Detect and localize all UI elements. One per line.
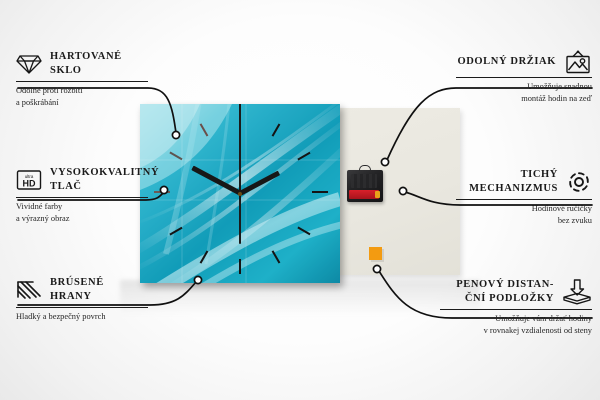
infographic-stage: HARTOVANÉ SKLO Odolné proti rozbití a po… xyxy=(0,0,600,400)
hd-label: HD xyxy=(23,178,36,188)
feature-desc-line-1: Umožňuje snadnou xyxy=(456,81,592,93)
feature-desc-line-2: a výrazný obraz xyxy=(16,213,148,225)
feature-divider xyxy=(16,197,148,198)
feature-description: Vividné farby a výrazný obraz xyxy=(16,201,148,225)
feature-title-line-2: ČNÍ PODLOŽKY xyxy=(456,292,554,306)
feature-title: PENOVÝ DISTAN- ČNÍ PODLOŽKY xyxy=(456,278,554,306)
feature-desc-line-1: Hodinové ručičky xyxy=(456,203,592,215)
mechanism-battery xyxy=(349,190,379,199)
feature-desc-line-1: Vividné farby xyxy=(16,201,148,213)
feature-durable-holder: ODOLNÝ DRŽIAK Umožňuje snadnou montáž ho… xyxy=(456,50,592,105)
feature-tempered-glass: HARTOVANÉ SKLO Odolné proti rozbití a po… xyxy=(16,50,148,109)
mechanism-hanger-hook xyxy=(359,165,371,171)
orange-foam-spacer xyxy=(369,247,382,260)
feature-description: Odolné proti rozbití a poškrábání xyxy=(16,85,148,109)
quartz-clock-mechanism xyxy=(347,170,383,202)
feature-divider xyxy=(456,199,592,200)
feature-title: VYSOKOKVALITNÝ TLAČ xyxy=(50,166,159,194)
feature-desc-line-1: Odolné proti rozbití xyxy=(16,85,148,97)
hour-tick-3 xyxy=(312,191,328,193)
surface-reflection xyxy=(120,280,480,322)
mechanism-dial xyxy=(351,174,377,188)
feature-ground-edges: BRÚSENÉ HRANY Hladký a bezpečný povrch xyxy=(16,276,148,323)
feature-title: TICHÝ MECHANIZMUS xyxy=(456,168,558,196)
feature-desc-line-1: Hladký a bezpečný povrch xyxy=(16,311,148,323)
feature-description: Hladký a bezpečný povrch xyxy=(16,311,148,323)
feature-description: Umožňuje snadnou montáž hodin na zeď xyxy=(456,81,592,105)
square-glass-wall-clock xyxy=(140,104,340,283)
feature-title-line-1: PENOVÝ DISTAN- xyxy=(456,278,554,292)
diamond-icon xyxy=(16,53,42,75)
gear-icon xyxy=(566,170,592,194)
hour-tick-6 xyxy=(239,259,241,274)
feature-divider xyxy=(16,81,148,82)
arrow-press-pads-icon xyxy=(562,279,592,305)
feature-divider xyxy=(456,77,592,78)
feature-desc-line-1: Umožňuje vám držať hodiny xyxy=(440,313,592,325)
feature-desc-line-2: v rovnakej vzdialenosti od steny xyxy=(440,325,592,337)
diagonal-lines-icon xyxy=(16,279,42,301)
feature-description: Hodinové ručičky bez zvuku xyxy=(456,203,592,227)
feature-divider xyxy=(16,307,148,308)
feature-desc-line-2: bez zvuku xyxy=(456,215,592,227)
feature-foam-spacers: PENOVÝ DISTAN- ČNÍ PODLOŽKY Umožňuje vám… xyxy=(440,278,592,337)
clock-hands-hub xyxy=(238,192,242,196)
second-hand xyxy=(239,104,240,244)
feature-hd-print: ultra HD VYSOKOKVALITNÝ TLAČ Vividné far… xyxy=(16,166,148,225)
ultra-hd-badge-icon: ultra HD xyxy=(16,169,42,191)
feature-title: BRÚSENÉ HRANY xyxy=(50,276,148,304)
product-photo xyxy=(140,104,340,283)
feature-desc-line-2: a poškrábání xyxy=(16,97,148,109)
feature-desc-line-2: montáž hodin na zeď xyxy=(456,93,592,105)
feature-title: HARTOVANÉ SKLO xyxy=(50,50,148,78)
feature-divider xyxy=(440,309,592,310)
wall-frame-hanger-icon xyxy=(564,50,592,74)
feature-description: Umožňuje vám držať hodiny v rovnakej vzd… xyxy=(440,313,592,337)
feature-silent-mechanism: TICHÝ MECHANIZMUS Hodinové ručičky bez z… xyxy=(456,168,592,227)
feature-title: ODOLNÝ DRŽIAK xyxy=(457,55,556,69)
